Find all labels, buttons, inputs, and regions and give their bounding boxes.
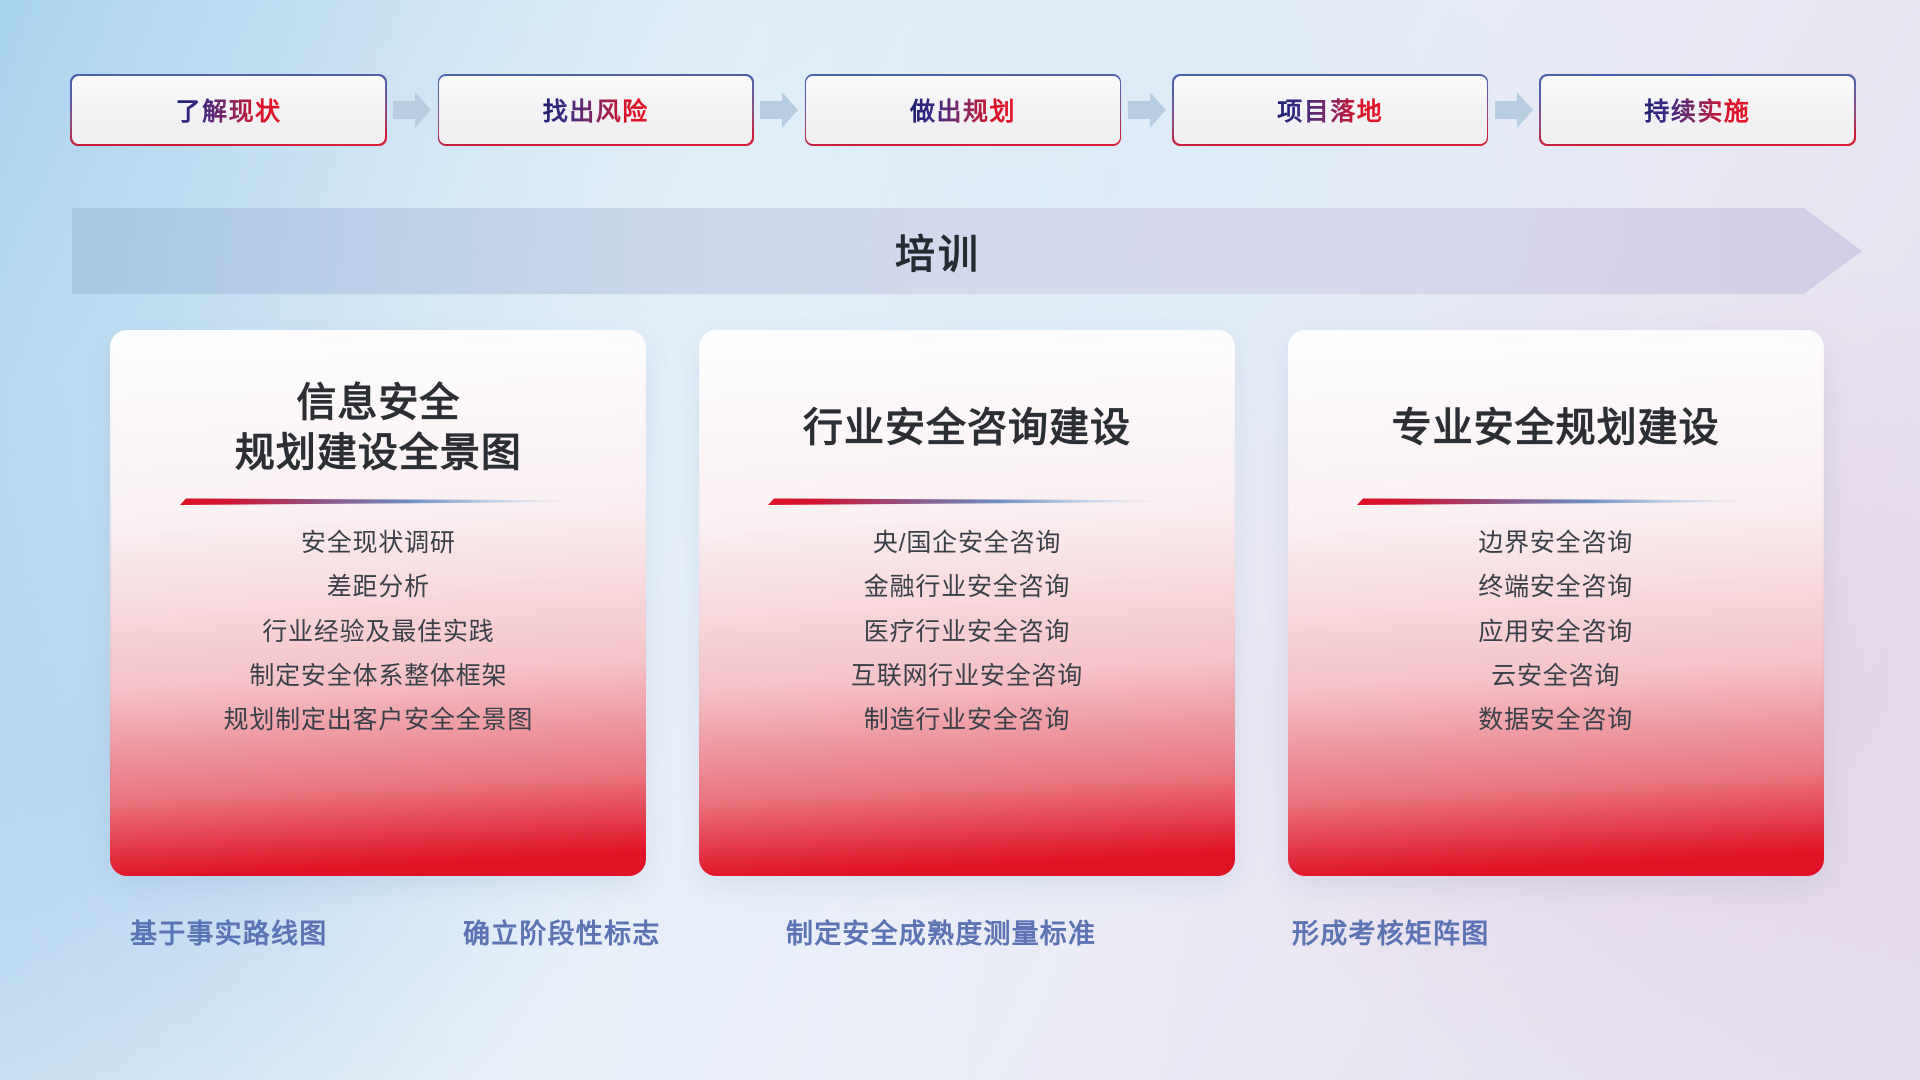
card-list-item: 差距分析 [327,572,430,603]
process-step-3[interactable]: 做出规划 [806,76,1119,144]
process-step-label: 找出风险 [543,92,649,128]
footer-label-4: 形成考核矩阵图 [1292,912,1489,951]
card-title: 行业安全咨询建设 [803,376,1131,480]
service-card-1[interactable]: 信息安全 规划建设全景图安全现状调研差距分析行业经验及最佳实践制定安全体系整体框… [112,332,645,874]
footer-label-3: 制定安全成熟度测量标准 [786,912,1096,951]
gradient-divider-icon [768,496,1165,506]
card-list-item: 数据安全咨询 [1478,705,1633,736]
card-title: 专业安全规划建设 [1392,376,1720,480]
training-banner: 培训 [72,208,1862,294]
process-steps: 了解现状找出风险做出规划项目落地持续实施 [72,76,1854,144]
card-list-item: 终端安全咨询 [1478,572,1633,603]
card-item-list: 边界安全咨询终端安全咨询应用安全咨询云安全咨询数据安全咨询 [1319,528,1792,736]
service-card-3[interactable]: 专业安全规划建设边界安全咨询终端安全咨询应用安全咨询云安全咨询数据安全咨询 [1289,332,1822,874]
step-arrow-icon [1487,88,1541,132]
card-item-list: 安全现状调研差距分析行业经验及最佳实践制定安全体系整体框架规划制定出客户安全全景… [142,528,615,736]
card-list-item: 安全现状调研 [301,528,456,559]
process-step-5[interactable]: 持续实施 [1541,76,1854,144]
slide-canvas: 了解现状找出风险做出规划项目落地持续实施 培训 信息安全 规划建设全景图安全现状… [0,0,1920,1080]
process-step-label: 做出规划 [910,92,1016,128]
banner-title: 培训 [72,208,1862,294]
process-step-4[interactable]: 项目落地 [1174,76,1487,144]
card-list-item: 互联网行业安全咨询 [851,661,1083,692]
card-list-item: 金融行业安全咨询 [864,572,1070,603]
process-step-label: 项目落地 [1277,92,1383,128]
gradient-divider-icon [1357,496,1754,506]
step-arrow-icon [1120,88,1174,132]
card-list-item: 边界安全咨询 [1478,528,1633,559]
footer-label-1: 基于事实路线图 [130,912,327,951]
card-list-item: 行业经验及最佳实践 [262,617,494,648]
card-list-item: 央/国企安全咨询 [873,528,1061,559]
card-item-list: 央/国企安全咨询金融行业安全咨询医疗行业安全咨询互联网行业安全咨询制造行业安全咨… [731,528,1204,736]
card-group: 信息安全 规划建设全景图安全现状调研差距分析行业经验及最佳实践制定安全体系整体框… [112,332,1822,874]
process-step-label: 了解现状 [176,92,282,128]
process-step-label: 持续实施 [1644,92,1750,128]
card-list-item: 制定安全体系整体框架 [249,661,507,692]
card-title: 信息安全 规划建设全景图 [235,376,522,480]
card-list-item: 规划制定出客户安全全景图 [224,705,534,736]
process-step-1[interactable]: 了解现状 [72,76,385,144]
gradient-divider-icon [180,496,577,506]
card-list-item: 医疗行业安全咨询 [864,617,1070,648]
process-step-2[interactable]: 找出风险 [439,76,752,144]
card-list-item: 云安全咨询 [1491,661,1620,692]
footer-label-2: 确立阶段性标志 [463,912,660,951]
step-arrow-icon [752,88,806,132]
step-arrow-icon [385,88,439,132]
card-list-item: 制造行业安全咨询 [864,705,1070,736]
card-list-item: 应用安全咨询 [1478,617,1633,648]
footer-label-group: 基于事实路线图确立阶段性标志制定安全成熟度测量标准形成考核矩阵图 [0,912,1920,960]
service-card-2[interactable]: 行业安全咨询建设央/国企安全咨询金融行业安全咨询医疗行业安全咨询互联网行业安全咨… [701,332,1234,874]
